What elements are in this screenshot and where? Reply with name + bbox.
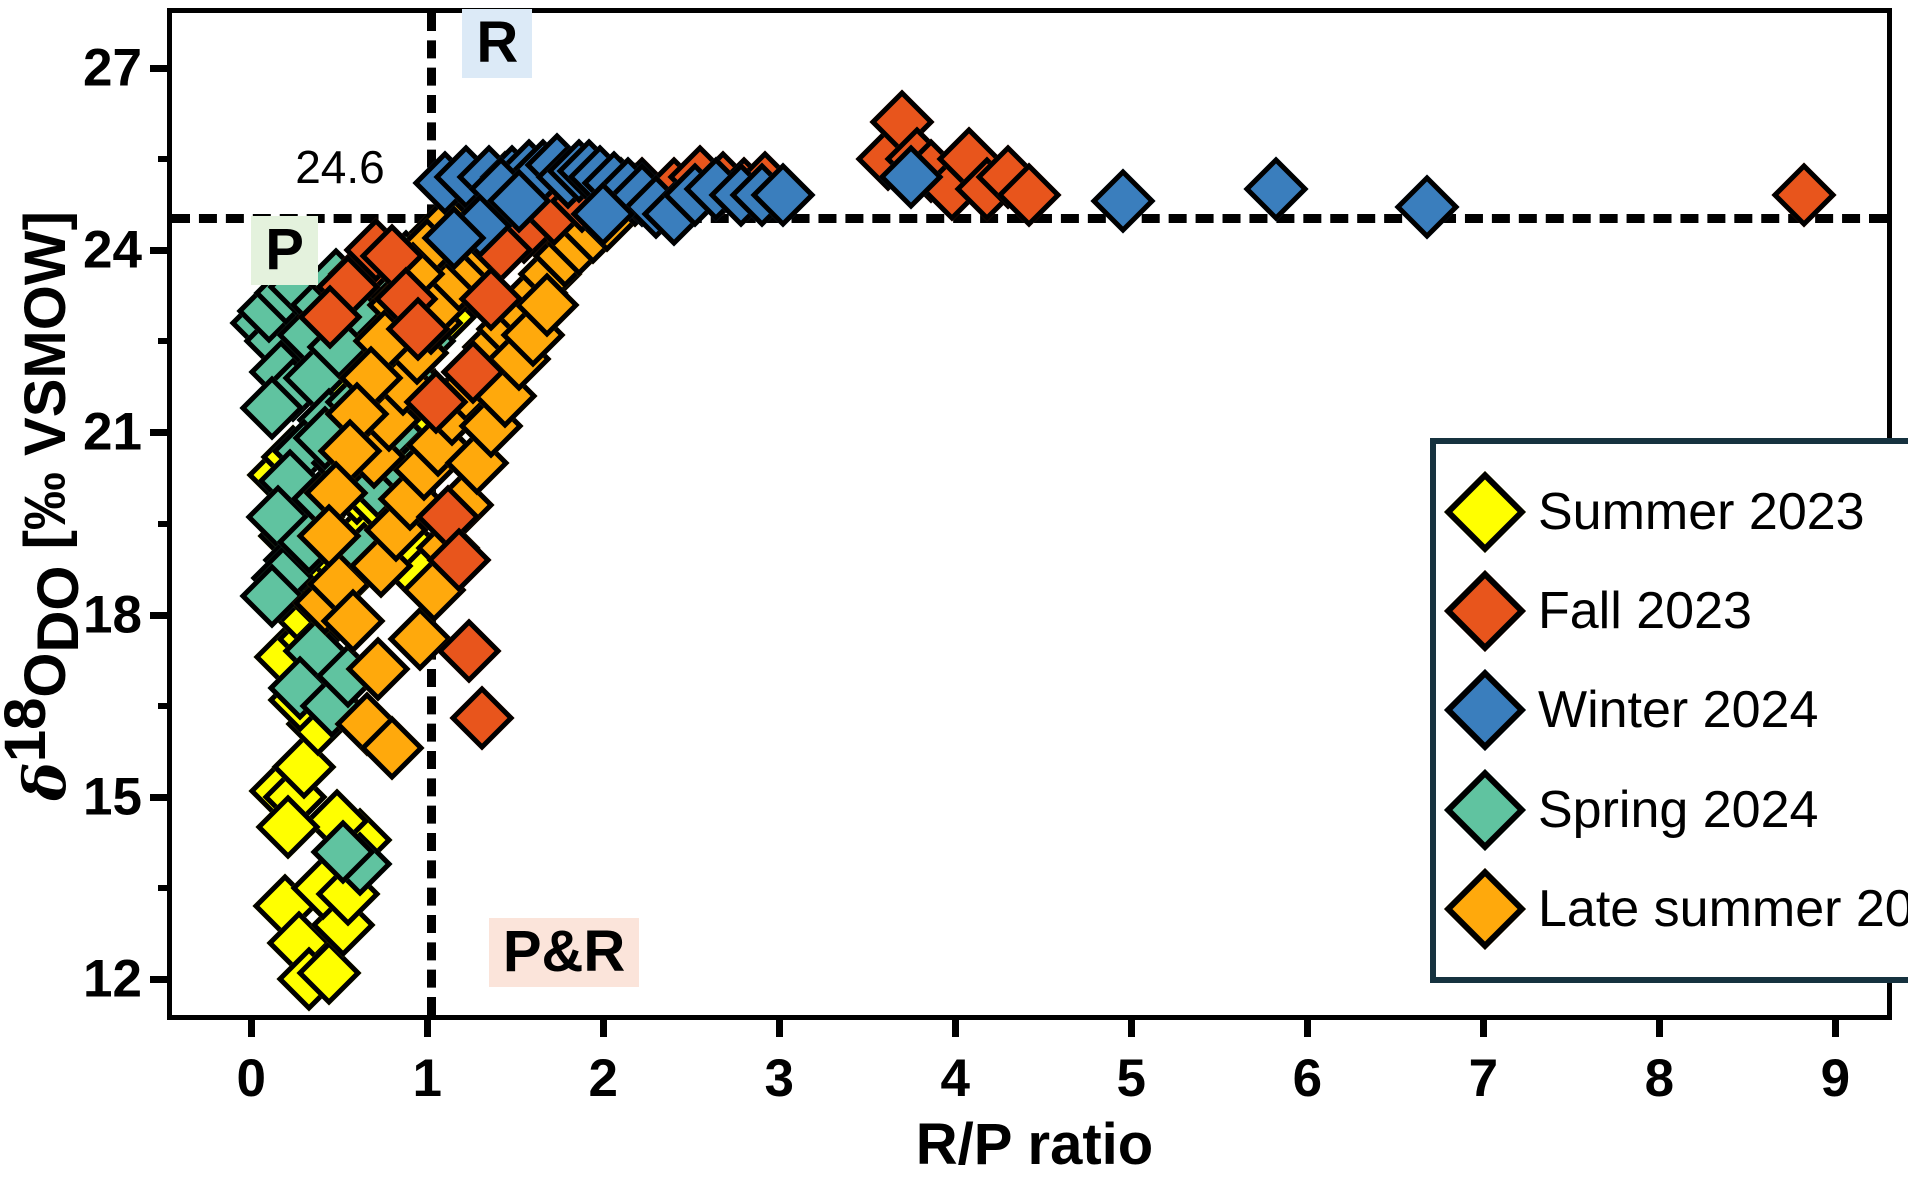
y-axis-title: δ18ODO [‰ VSMOW] (0, 0, 102, 1012)
x-tick-label-6: 6 (1293, 1048, 1322, 1109)
x-axis-title: R/P ratio (172, 1111, 1897, 1178)
x-tick-label-0: 0 (236, 1048, 265, 1109)
legend-item-late-summer-2024[interactable]: Late summer 2024 (1456, 863, 1908, 955)
legend-swatch-icon (1444, 669, 1526, 751)
y-axis-title-text: δ18ODO [‰ VSMOW] (0, 211, 92, 801)
x-tick-8 (1656, 1015, 1663, 1037)
legend-item-label: Spring 2024 (1538, 780, 1818, 840)
legend-item-winter-2024[interactable]: Winter 2024 (1456, 664, 1908, 756)
legend-item-label: Fall 2023 (1538, 581, 1752, 641)
x-tick-label-1: 1 (412, 1048, 441, 1109)
x-tick-5 (1128, 1015, 1135, 1037)
legend-item-summer-2023[interactable]: Summer 2023 (1456, 466, 1908, 558)
legend-swatch-icon (1444, 570, 1526, 652)
y-tick-15 (150, 794, 172, 801)
y-tick-21 (150, 429, 172, 436)
y-tick-27 (150, 65, 172, 72)
y-minor-tick (158, 521, 172, 527)
x-tick-7 (1480, 1015, 1487, 1037)
data-point (437, 619, 502, 684)
zone-label-p: P (251, 216, 318, 285)
x-tick-4 (952, 1015, 959, 1037)
data-point (449, 686, 514, 751)
y-minor-tick (158, 703, 172, 709)
x-tick-label-3: 3 (765, 1048, 794, 1109)
zone-label-p-and-r: P&R (489, 918, 639, 987)
plot-frame: 121518212427 0123456789 24.6 P R P&R Sum… (167, 8, 1892, 1020)
x-tick-label-7: 7 (1469, 1048, 1498, 1109)
x-tick-3 (776, 1015, 783, 1037)
y-tick-24 (150, 247, 172, 254)
legend-swatch-icon (1444, 471, 1526, 553)
data-point (1243, 157, 1308, 222)
x-tick-1 (424, 1015, 431, 1037)
x-tick-label-8: 8 (1645, 1048, 1674, 1109)
x-tick-label-9: 9 (1821, 1048, 1850, 1109)
x-tick-2 (600, 1015, 607, 1037)
x-tick-0 (248, 1015, 255, 1037)
x-tick-label-5: 5 (1117, 1048, 1146, 1109)
legend-swatch-icon (1444, 868, 1526, 950)
x-tick-9 (1832, 1015, 1839, 1037)
data-point (1394, 175, 1459, 240)
x-tick-6 (1304, 1015, 1311, 1037)
zone-label-r: R (462, 9, 532, 78)
legend-item-fall-2023[interactable]: Fall 2023 (1456, 565, 1908, 657)
y-tick-12 (150, 976, 172, 983)
x-tick-label-2: 2 (589, 1048, 618, 1109)
y-minor-tick (158, 156, 172, 162)
x-tick-label-4: 4 (941, 1048, 970, 1109)
y-minor-tick (158, 338, 172, 344)
saturation-value-label: 24.6 (295, 140, 385, 194)
data-point (1090, 169, 1155, 234)
chart-root: 121518212427 0123456789 24.6 P R P&R Sum… (0, 0, 1908, 1171)
legend-box[interactable]: Summer 2023Fall 2023Winter 2024Spring 20… (1430, 438, 1908, 983)
legend-item-label: Winter 2024 (1538, 680, 1818, 740)
legend-swatch-icon (1444, 769, 1526, 851)
y-minor-tick (158, 885, 172, 891)
legend-item-label: Summer 2023 (1538, 482, 1865, 542)
legend-item-label: Late summer 2024 (1538, 879, 1908, 939)
legend-item-spring-2024[interactable]: Spring 2024 (1456, 764, 1908, 856)
y-tick-18 (150, 612, 172, 619)
